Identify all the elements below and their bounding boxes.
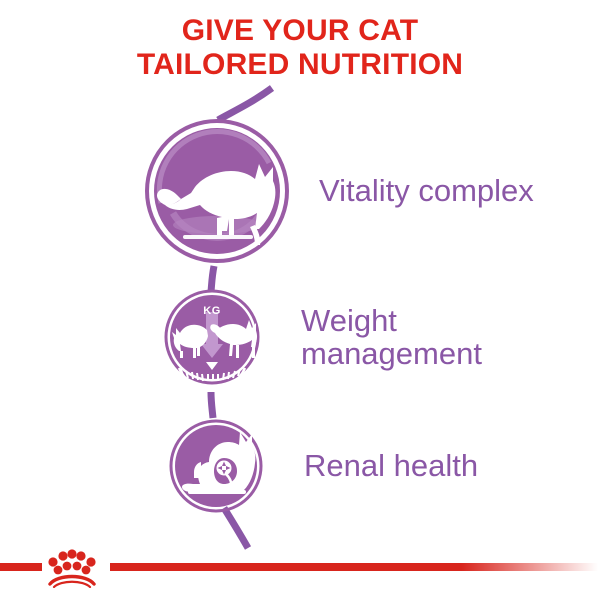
sitting-cat-kidney-circle-icon[interactable] — [168, 418, 264, 514]
page-title-line-1: GIVE YOUR CAT — [0, 14, 600, 48]
benefit-label: Renal health — [304, 449, 478, 482]
benefit-row[interactable]: KG — [163, 288, 482, 386]
benefit-row[interactable]: Vitality complex — [143, 117, 534, 265]
page-title-line-2: TAILORED NUTRITION — [0, 48, 600, 82]
footer-bar-left — [0, 563, 42, 571]
weight-scale-cats-circle-icon[interactable]: KG — [163, 288, 261, 386]
poster-canvas: GIVE YOUR CAT TAILORED NUTRITION — [0, 0, 600, 600]
benefit-label: Vitality complex — [319, 174, 534, 207]
footer-brand-bar — [0, 542, 600, 600]
kg-badge-text: KG — [203, 305, 221, 317]
page-title: GIVE YOUR CAT TAILORED NUTRITION — [0, 14, 600, 81]
walking-cat-circle-icon[interactable] — [143, 117, 291, 265]
benefit-label: Weight management — [301, 304, 482, 371]
benefit-row[interactable]: Renal health — [168, 418, 478, 514]
footer-bar-right — [110, 563, 598, 571]
royal-canin-crown-logo — [44, 546, 100, 588]
